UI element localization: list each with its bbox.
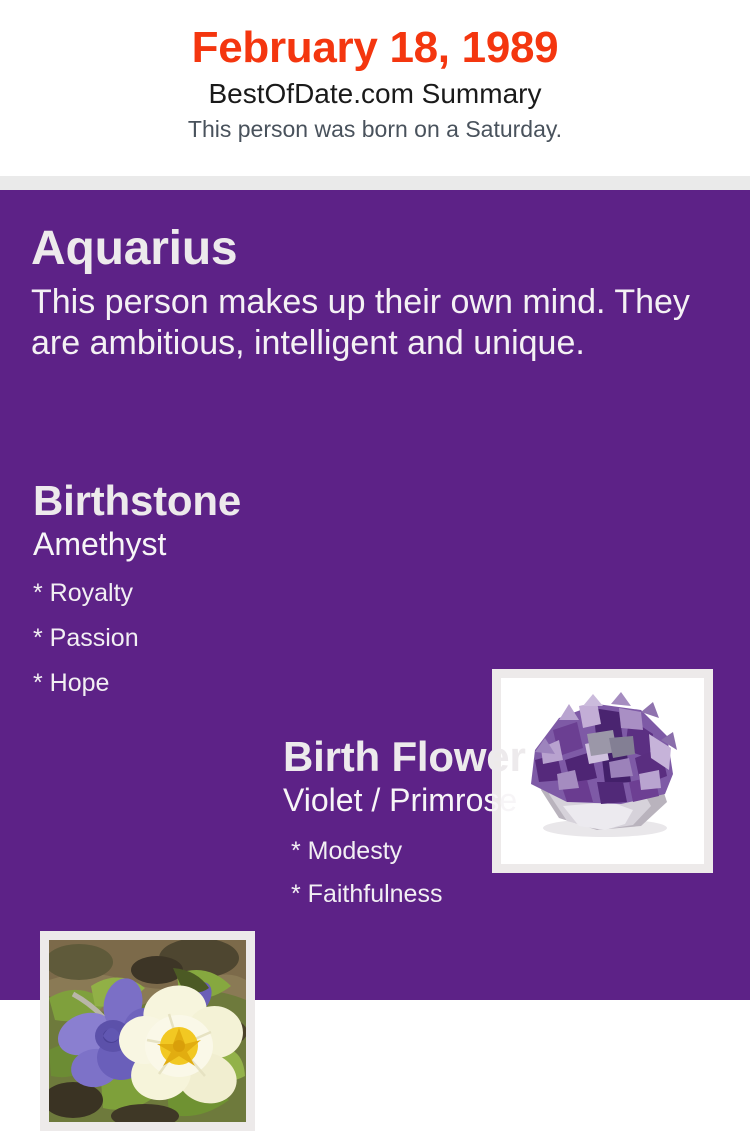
- birthstone-name: Amethyst: [33, 524, 463, 564]
- page-title-date: February 18, 1989: [0, 0, 750, 71]
- page-header: February 18, 1989 BestOfDate.com Summary…: [0, 0, 750, 176]
- list-item: * Passion: [33, 616, 463, 661]
- summary-panel: Aquarius This person makes up their own …: [0, 190, 750, 1000]
- birth-flower-image-frame: [40, 931, 255, 1131]
- list-item: * Royalty: [33, 571, 463, 616]
- zodiac-section: Aquarius This person makes up their own …: [31, 222, 691, 365]
- site-summary-label: BestOfDate.com Summary: [0, 71, 750, 110]
- birth-flower-image: [49, 940, 246, 1122]
- birthstone-section: Birthstone Amethyst * Royalty * Passion …: [33, 478, 463, 706]
- birthstone-trait-list: * Royalty * Passion * Hope: [33, 564, 463, 706]
- birth-weekday-note: This person was born on a Saturday.: [0, 110, 750, 142]
- list-item: * Hope: [33, 661, 463, 706]
- birth-flower-heading: Birth Flower: [283, 734, 733, 780]
- list-item: * Faithfulness: [291, 873, 733, 916]
- birthday-summary-page: February 18, 1989 BestOfDate.com Summary…: [0, 0, 750, 1000]
- list-item: * Modesty: [291, 830, 733, 873]
- birth-flower-name: Violet / Primrose: [283, 780, 733, 820]
- birth-flower-trait-list: * Modesty * Faithfulness: [283, 820, 733, 916]
- header-divider: [0, 176, 750, 190]
- birthstone-heading: Birthstone: [33, 478, 463, 524]
- zodiac-sign-title: Aquarius: [31, 222, 691, 276]
- birth-flower-section: Birth Flower Violet / Primrose * Modesty…: [283, 734, 733, 916]
- violet-primrose-flower-icon: [49, 940, 246, 1122]
- zodiac-description: This person makes up their own mind. The…: [31, 276, 691, 365]
